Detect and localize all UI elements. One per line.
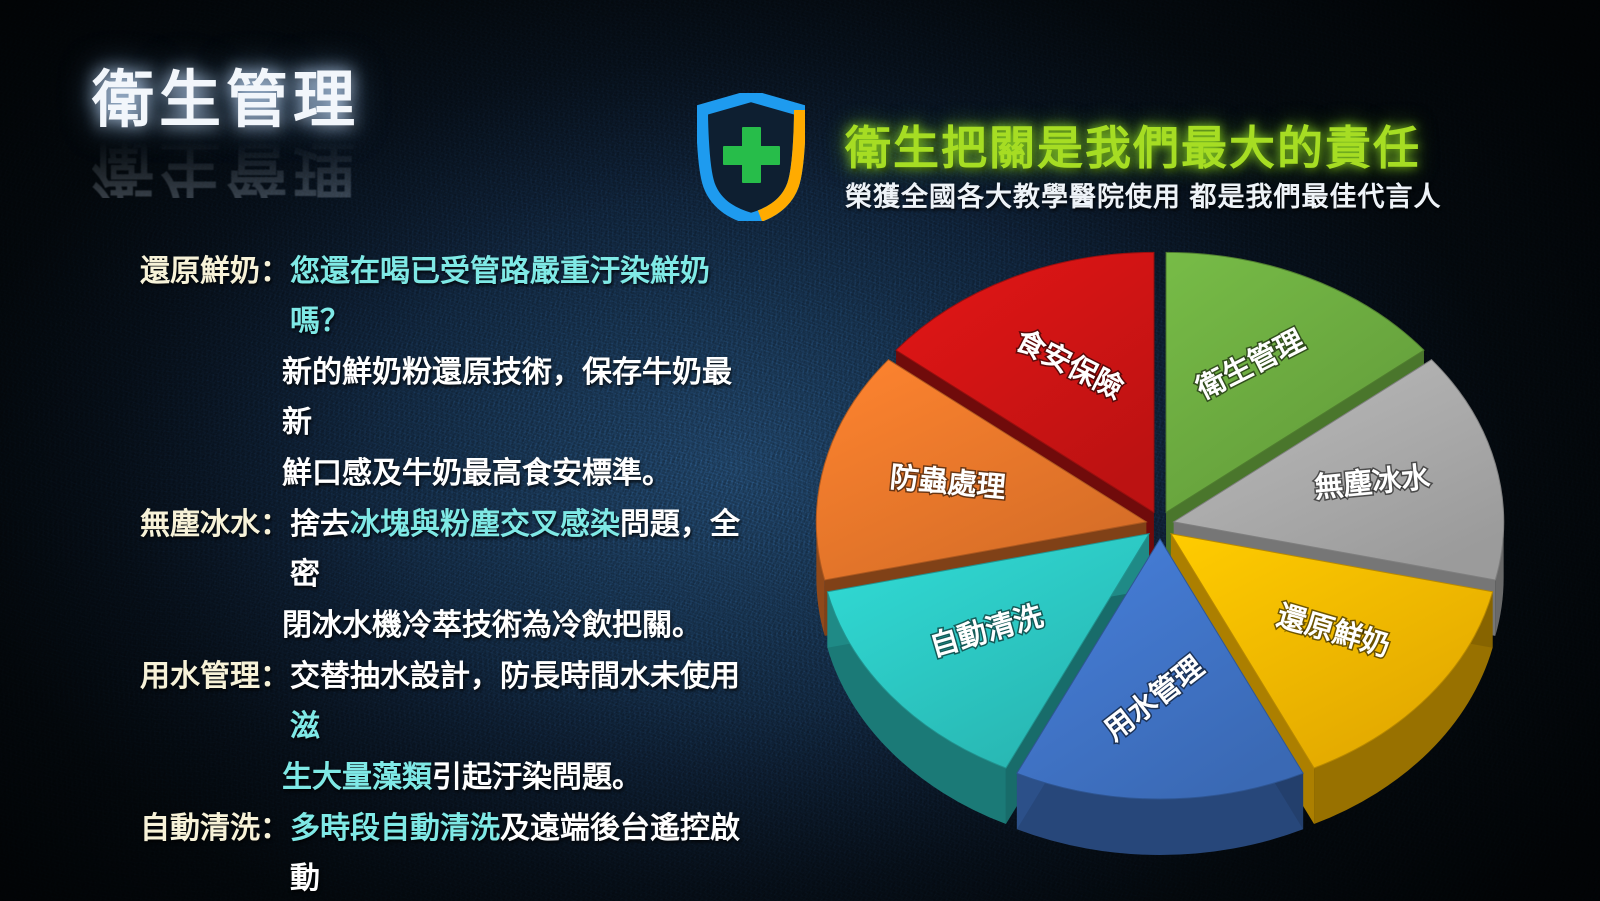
feature-text: 您還在喝已受管路嚴重汙染鮮奶嗎？ — [290, 247, 758, 347]
feature-label: 自動清洗 — [118, 804, 260, 854]
pie-chart: 衛生管理無塵冰水還原鮮奶用水管理自動清洗防蟲處理食安保險 — [790, 250, 1580, 870]
pie-chart-svg: 衛生管理無塵冰水還原鮮奶用水管理自動清洗防蟲處理食安保險 — [790, 250, 1580, 870]
feature-text: 新的鮮奶粉還原技術，保存牛奶最新 — [282, 348, 758, 448]
feature-text-highlight: 您還在喝已受管路嚴重汙染鮮奶嗎？ — [290, 255, 710, 338]
feature-row: 生大量藻類引起汙染問題。 — [118, 753, 758, 803]
feature-text: 閉冰水機冷萃技術為冷飲把關。 — [282, 601, 758, 651]
feature-text: 多時段自動清洗及遠端後台遙控啟動 — [290, 804, 758, 901]
feature-text: 鮮口感及牛奶最高食安標準。 — [282, 449, 758, 499]
feature-label: 還原鮮奶 — [118, 247, 260, 297]
feature-row: 鮮口感及牛奶最高食安標準。 — [118, 449, 758, 499]
feature-row: 無塵冰水：捨去冰塊與粉塵交叉感染問題，全密 — [118, 500, 758, 600]
slide-stage: 衛生管理 衛生管理 衛生把關是我們最大的責任 榮獲全國各大教學醫院使用 都是我們… — [0, 0, 1600, 901]
feature-colon: ： — [260, 247, 290, 297]
page-title: 衛生管理 — [92, 70, 360, 132]
headline: 衛生把關是我們最大的責任 — [845, 112, 1421, 178]
page-title-block: 衛生管理 衛生管理 — [92, 70, 360, 198]
feature-text-highlight: 冰塊與粉塵交叉感染 — [350, 508, 620, 541]
feature-text-plain: 捨去 — [290, 508, 350, 541]
feature-label: 無塵冰水 — [118, 500, 260, 550]
feature-text-plain: 新的鮮奶粉還原技術，保存牛奶最新 — [282, 356, 732, 439]
feature-text-plain: 閉冰水機冷萃技術為冷飲把關。 — [282, 609, 702, 642]
subheadline: 榮獲全國各大教學醫院使用 都是我們最佳代言人 — [845, 175, 1442, 214]
feature-colon: ： — [260, 804, 290, 854]
shield-medical-icon — [697, 93, 805, 221]
page-title-reflection: 衛生管理 — [92, 136, 360, 198]
feature-text-highlight: 多時段自動清洗 — [290, 812, 500, 845]
feature-row: 自動清洗：多時段自動清洗及遠端後台遙控啟動 — [118, 804, 758, 901]
feature-row: 用水管理：交替抽水設計，防長時間水未使用滋 — [118, 652, 758, 752]
feature-row: 閉冰水機冷萃技術為冷飲把關。 — [118, 601, 758, 651]
feature-text: 交替抽水設計，防長時間水未使用滋 — [290, 652, 758, 752]
feature-row: 新的鮮奶粉還原技術，保存牛奶最新 — [118, 348, 758, 448]
feature-text: 捨去冰塊與粉塵交叉感染問題，全密 — [290, 500, 758, 600]
feature-label: 用水管理 — [118, 652, 260, 702]
pie-slice-tops — [816, 252, 1503, 799]
feature-text-plain: 鮮口感及牛奶最高食安標準。 — [282, 457, 672, 490]
feature-text-highlight: 滋 — [290, 710, 320, 743]
feature-colon: ： — [260, 652, 290, 702]
feature-text-highlight: 生大量藻類 — [282, 761, 432, 794]
feature-colon: ： — [260, 500, 290, 550]
feature-text: 生大量藻類引起汙染問題。 — [282, 753, 758, 803]
feature-text-plain: 交替抽水設計，防長時間水未使用 — [290, 660, 740, 693]
feature-row: 還原鮮奶：您還在喝已受管路嚴重汙染鮮奶嗎？ — [118, 247, 758, 347]
feature-text-plain: 引起汙染問題。 — [432, 761, 642, 794]
feature-list: 還原鮮奶：您還在喝已受管路嚴重汙染鮮奶嗎？新的鮮奶粉還原技術，保存牛奶最新鮮口感… — [118, 247, 758, 901]
